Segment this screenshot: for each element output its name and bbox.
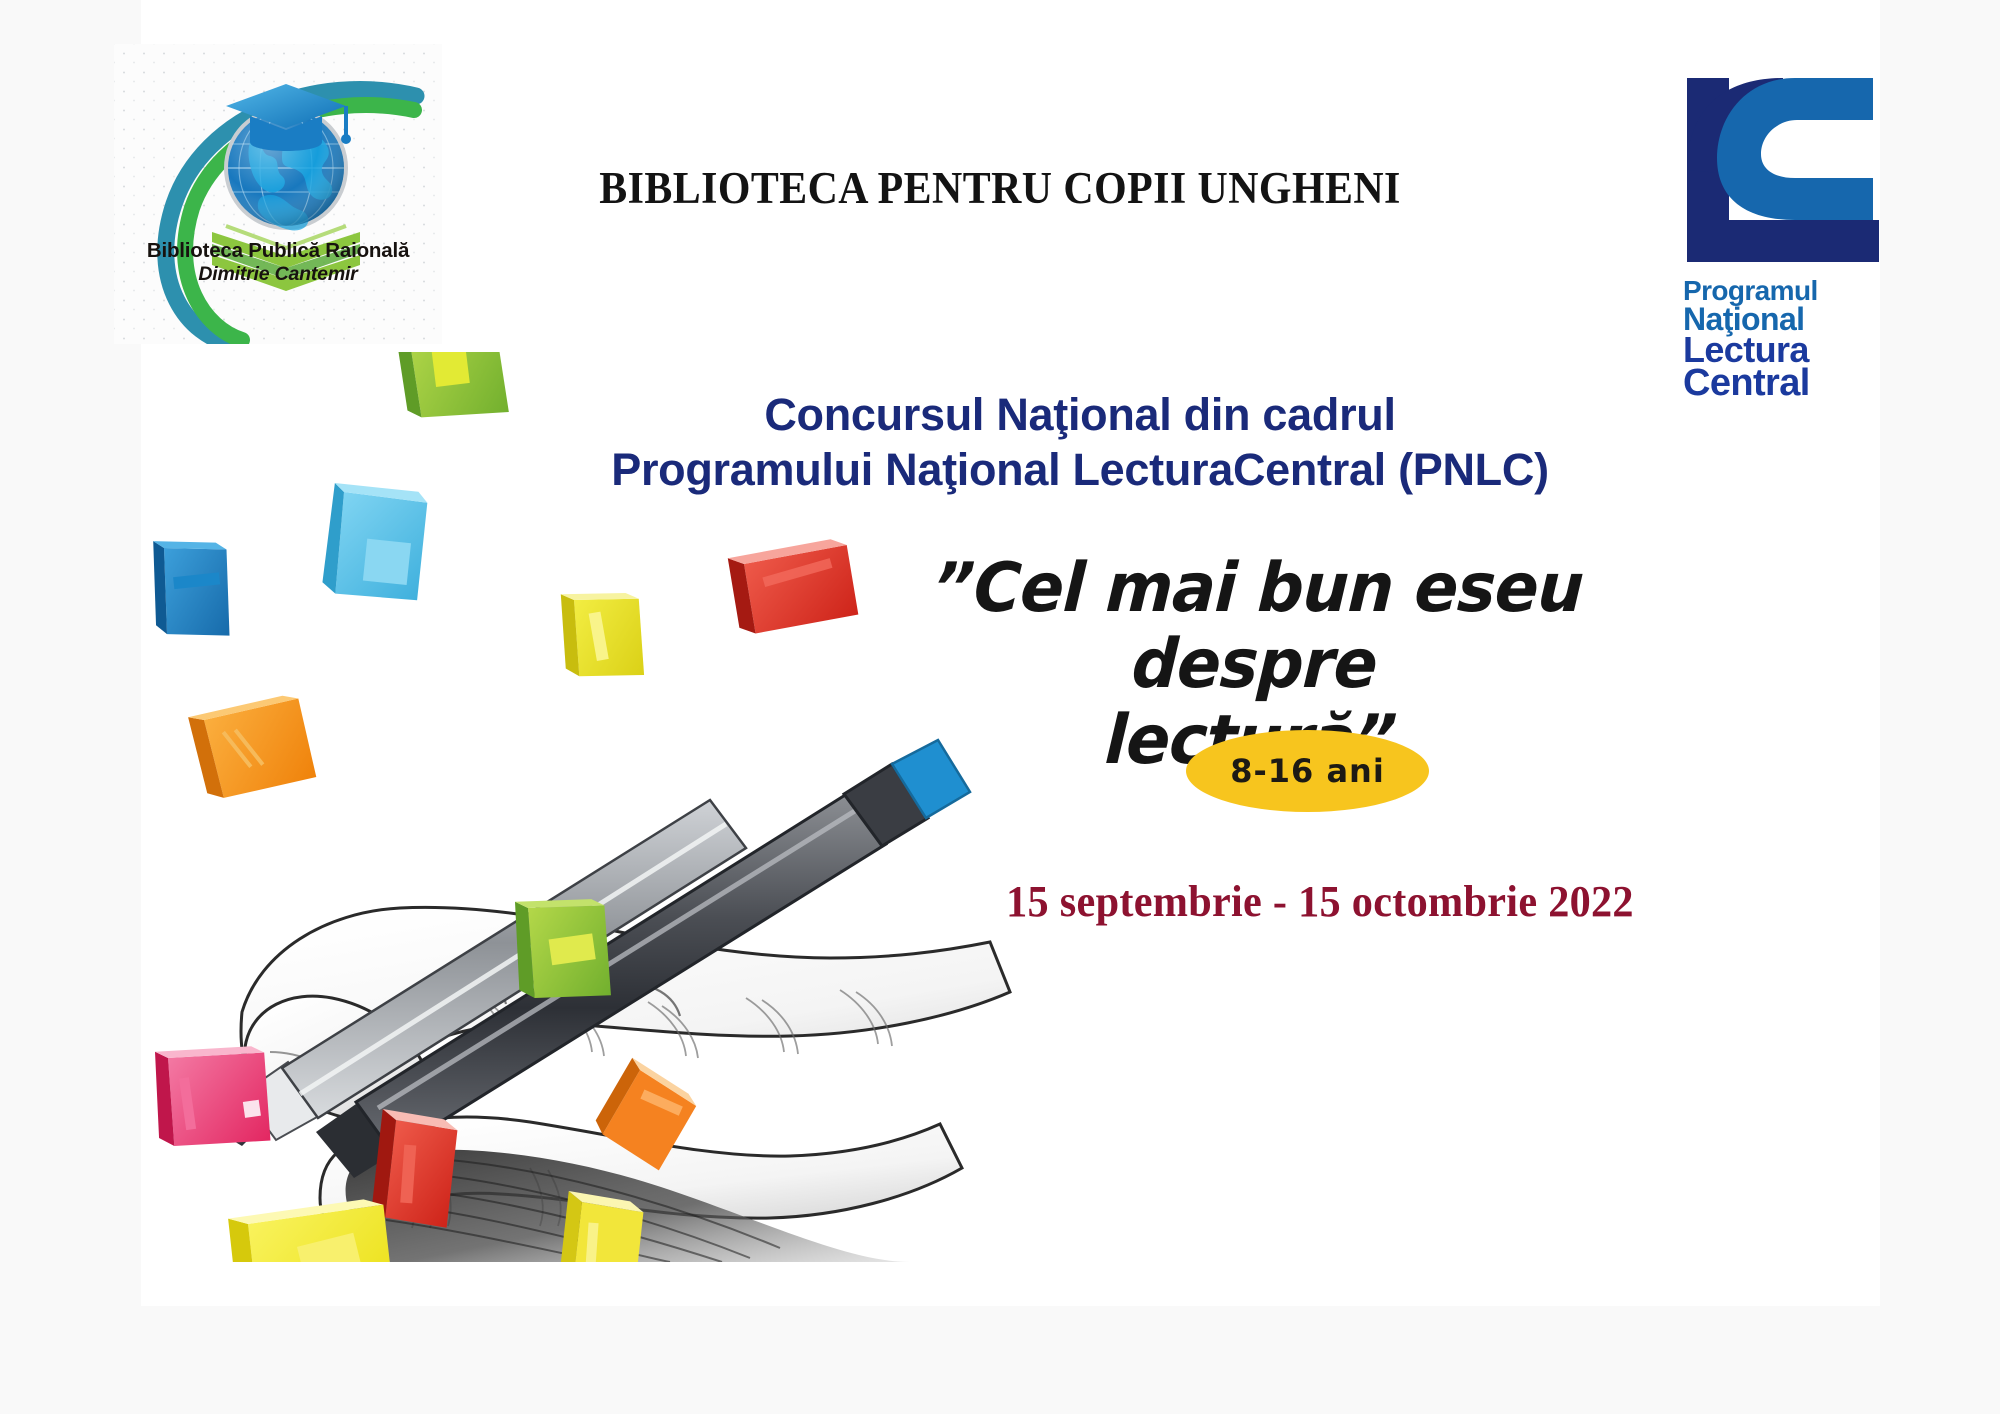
- age-range-badge: 8-16 ani: [1186, 730, 1429, 812]
- age-range-label: 8-16 ani: [1186, 730, 1429, 812]
- green-book-top: [387, 352, 517, 436]
- blue-book-small: [150, 534, 235, 644]
- yellow-book-mid: [553, 581, 652, 688]
- date-range: 15 septembrie - 15 octombrie 2022: [917, 876, 1723, 927]
- red-book-right: [720, 526, 866, 647]
- library-name-line1: Biblioteca Publică Raională: [114, 239, 442, 263]
- orange-book-left: [181, 680, 326, 814]
- lightblue-book: [321, 483, 428, 602]
- illustration-svg: [150, 352, 1030, 1262]
- poster-canvas: Biblioteca Publică Raională Dimitrie Can…: [0, 0, 2000, 1414]
- library-name-line2: Dimitrie Cantemir: [114, 263, 442, 286]
- lc-monogram-icon: [1683, 70, 1883, 270]
- green-book-lower: [507, 890, 617, 1008]
- pnlc-logo: Programul Naţional Lectura Central: [1683, 70, 1883, 405]
- hand-pen-books-illustration: [150, 352, 1030, 1262]
- pink-book: [150, 1037, 276, 1156]
- page-title: BIBLIOTECA PENTRU COPII UNGHENI: [70, 162, 1930, 214]
